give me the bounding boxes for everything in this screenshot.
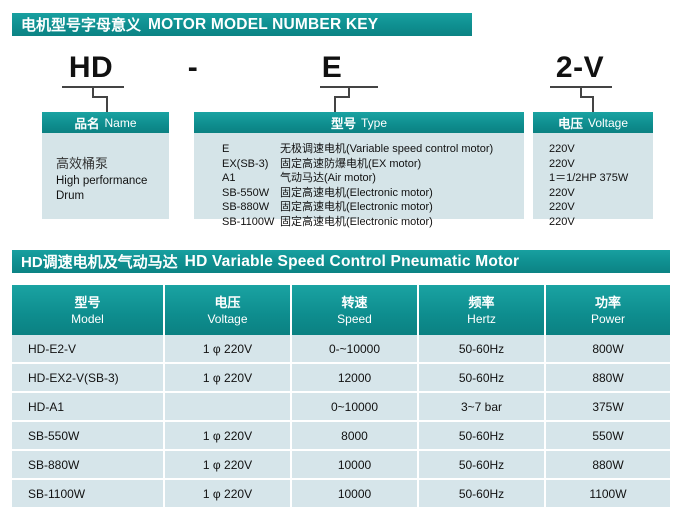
table-row: SB-550W 1 φ 220V 8000 50-60Hz 550W — [12, 421, 670, 450]
code-connector-2v-v2 — [592, 96, 594, 112]
cell-voltage: 1 φ 220V — [164, 335, 291, 363]
key-box-type-header: 型号 Type — [194, 112, 524, 133]
code-connector-e-h — [334, 96, 350, 98]
spec-header-speed: 转速 Speed — [291, 285, 418, 335]
key-box-voltage-header-en: Voltage — [588, 116, 628, 130]
table-row: HD-E2-V 1 φ 220V 0-~10000 50-60Hz 800W — [12, 335, 670, 363]
cell-speed: 0~10000 — [291, 392, 418, 421]
cell-voltage: 1 φ 220V — [164, 421, 291, 450]
voltage-row: 220V — [549, 215, 653, 230]
type-row: A1 气动马达(Air motor) — [194, 171, 524, 186]
type-row-desc: 固定高速电机(Electronic motor) — [280, 215, 524, 230]
key-box-type-header-cn: 型号 — [331, 113, 356, 132]
key-box-name-header: 品名 Name — [42, 112, 169, 133]
type-row: SB-880W 固定高速电机(Electronic motor) — [194, 200, 524, 215]
spec-header-hertz-en: Hertz — [419, 311, 544, 327]
type-row-code: SB-1100W — [194, 215, 280, 230]
cell-model: SB-880W — [12, 450, 164, 479]
spec-header-voltage-en: Voltage — [165, 311, 290, 327]
key-box-name: 品名 Name 高效桶泵 High performance Drum — [42, 112, 169, 219]
cell-voltage — [164, 392, 291, 421]
type-row-code: E — [194, 142, 280, 157]
type-row-desc: 固定高速电机(Electronic motor) — [280, 186, 524, 201]
type-row: SB-1100W 固定高速电机(Electronic motor) — [194, 215, 524, 230]
cell-power: 800W — [545, 335, 670, 363]
cell-speed: 10000 — [291, 479, 418, 507]
table-row: HD-EX2-V(SB-3) 1 φ 220V 12000 50-60Hz 88… — [12, 363, 670, 392]
type-row: E 无极调速电机(Variable speed control motor) — [194, 142, 524, 157]
cell-voltage: 1 φ 220V — [164, 450, 291, 479]
type-row: SB-550W 固定高速电机(Electronic motor) — [194, 186, 524, 201]
banner2-title-en: HD Variable Speed Control Pneumatic Moto… — [185, 253, 520, 271]
cell-speed: 10000 — [291, 450, 418, 479]
key-box-voltage-body: 220V 220V 1＝1/2HP 375W 220V 220V 220V — [533, 133, 653, 219]
cell-hertz: 50-60Hz — [418, 363, 545, 392]
voltage-row: 1＝1/2HP 375W — [549, 171, 653, 186]
code-token-hd: HD — [58, 52, 124, 84]
key-box-type: 型号 Type E 无极调速电机(Variable speed control … — [194, 112, 524, 219]
cell-power: 880W — [545, 450, 670, 479]
key-box-type-body: E 无极调速电机(Variable speed control motor) E… — [194, 133, 524, 219]
spec-header-hertz-cn: 频率 — [419, 294, 544, 311]
table-row: SB-1100W 1 φ 220V 10000 50-60Hz 1100W — [12, 479, 670, 507]
type-row-desc: 固定高速电机(Electronic motor) — [280, 200, 524, 215]
cell-hertz: 50-60Hz — [418, 479, 545, 507]
cell-power: 550W — [545, 421, 670, 450]
cell-hertz: 3~7 bar — [418, 392, 545, 421]
spec-header-power-en: Power — [546, 311, 670, 327]
type-row: EX(SB-3) 固定高速防爆电机(EX motor) — [194, 157, 524, 172]
type-row-desc: 气动马达(Air motor) — [280, 171, 524, 186]
cell-power: 1100W — [545, 479, 670, 507]
spec-header-voltage-cn: 电压 — [165, 294, 290, 311]
voltage-row: 220V — [549, 157, 653, 172]
cell-model: HD-EX2-V(SB-3) — [12, 363, 164, 392]
cell-hertz: 50-60Hz — [418, 335, 545, 363]
spec-header-speed-cn: 转速 — [292, 294, 417, 311]
cell-hertz: 50-60Hz — [418, 450, 545, 479]
type-row-code: SB-880W — [194, 200, 280, 215]
spec-header-model-cn: 型号 — [12, 294, 163, 311]
spec-table-header-row: 型号 Model 电压 Voltage 转速 Speed 频率 Hertz 功率… — [12, 285, 670, 335]
cell-model: HD-A1 — [12, 392, 164, 421]
cell-model: SB-1100W — [12, 479, 164, 507]
section-banner-hd-variable-speed: HD调速电机及气动马达 HD Variable Speed Control Pn… — [12, 250, 670, 273]
spec-header-hertz: 频率 Hertz — [418, 285, 545, 335]
key-box-voltage-header-cn: 电压 — [558, 113, 583, 132]
key-box-voltage: 电压 Voltage 220V 220V 1＝1/2HP 375W 220V 2… — [533, 112, 653, 219]
banner2-title-cn: HD调速电机及气动马达 — [21, 251, 178, 272]
spec-table: 型号 Model 电压 Voltage 转速 Speed 频率 Hertz 功率… — [12, 285, 670, 507]
spec-header-power-cn: 功率 — [546, 294, 670, 311]
code-connector-hd-v2 — [106, 96, 108, 112]
cell-power: 880W — [545, 363, 670, 392]
key-box-voltage-header: 电压 Voltage — [533, 112, 653, 133]
key-box-name-body: 高效桶泵 High performance Drum — [42, 133, 169, 219]
cell-speed: 0-~10000 — [291, 335, 418, 363]
cell-speed: 12000 — [291, 363, 418, 392]
cell-voltage: 1 φ 220V — [164, 479, 291, 507]
spec-header-speed-en: Speed — [292, 311, 417, 327]
name-line-en-1: High performance — [56, 174, 169, 189]
type-row-desc: 无极调速电机(Variable speed control motor) — [280, 142, 524, 157]
model-code-diagram: HD - E 2-V — [0, 0, 684, 120]
spec-header-voltage: 电压 Voltage — [164, 285, 291, 335]
spec-header-power: 功率 Power — [545, 285, 670, 335]
cell-model: HD-E2-V — [12, 335, 164, 363]
voltage-row: 220V — [549, 142, 653, 157]
cell-speed: 8000 — [291, 421, 418, 450]
table-row: HD-A1 0~10000 3~7 bar 375W — [12, 392, 670, 421]
name-line-en-2: Drum — [56, 189, 169, 204]
table-row: SB-880W 1 φ 220V 10000 50-60Hz 880W — [12, 450, 670, 479]
type-row-code: A1 — [194, 171, 280, 186]
cell-model: SB-550W — [12, 421, 164, 450]
cell-voltage: 1 φ 220V — [164, 363, 291, 392]
code-connector-e-v2 — [334, 96, 336, 112]
cell-power: 375W — [545, 392, 670, 421]
code-token-2v: 2-V — [546, 52, 614, 84]
type-row-desc: 固定高速防爆电机(EX motor) — [280, 157, 524, 172]
name-line-cn: 高效桶泵 — [56, 155, 169, 172]
key-box-type-header-en: Type — [361, 116, 387, 130]
voltage-row: 220V — [549, 186, 653, 201]
key-box-name-header-cn: 品名 — [74, 113, 99, 132]
spec-header-model: 型号 Model — [12, 285, 164, 335]
voltage-row: 220V — [549, 200, 653, 215]
type-row-code: EX(SB-3) — [194, 157, 280, 172]
cell-hertz: 50-60Hz — [418, 421, 545, 450]
spec-header-model-en: Model — [12, 311, 163, 327]
code-token-e: E — [317, 52, 347, 84]
key-box-name-header-en: Name — [105, 116, 137, 130]
code-token-hyphen: - — [178, 52, 208, 84]
type-row-code: SB-550W — [194, 186, 280, 201]
